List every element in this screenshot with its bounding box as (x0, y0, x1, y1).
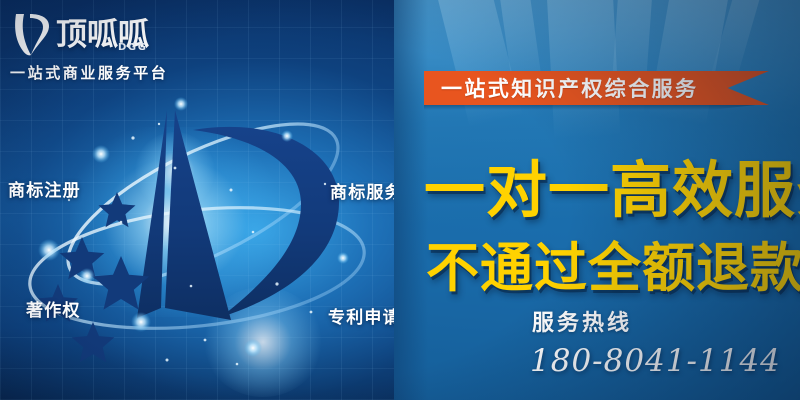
promo-panel: 一站式知识产权综合服务 一对一高效服务 不通过全额退款 服务热线 180-804… (394, 0, 800, 400)
logo-name-en: DGG (118, 42, 148, 53)
feature-label-copyright: 著作权 (26, 296, 81, 321)
feature-label-patent-application: 专利申请 (328, 303, 401, 328)
logo-top-row: 顶呱呱 DGG (8, 6, 183, 64)
promotional-banner: 商标注册 著作权 商标服务 专利申请 顶呱呱 DGG 一站式商业服务平台 一站式… (0, 0, 800, 400)
central-emblem (25, 72, 385, 392)
hotline-number[interactable]: 180-8041-1144 (530, 343, 781, 379)
brand-logo[interactable]: 顶呱呱 DGG 一站式商业服务平台 (8, 6, 183, 88)
promo-headline-primary: 一对一高效服务 (424, 140, 800, 229)
feature-label-trademark-service: 商标服务 (330, 178, 403, 203)
panel-left-fade (394, 0, 428, 400)
logo-tagline: 一站式商业服务平台 (10, 62, 168, 83)
promo-ribbon: 一站式知识产权综合服务 (424, 71, 769, 105)
hotline-label: 服务热线 (532, 305, 632, 337)
feature-label-trademark-registration: 商标注册 (8, 176, 81, 201)
promo-ribbon-text: 一站式知识产权综合服务 (424, 73, 698, 103)
dgg-leaf-mark-icon (10, 10, 54, 58)
promo-headline-secondary: 不通过全额退款 (426, 226, 800, 302)
ribbon-shadow (424, 105, 756, 110)
